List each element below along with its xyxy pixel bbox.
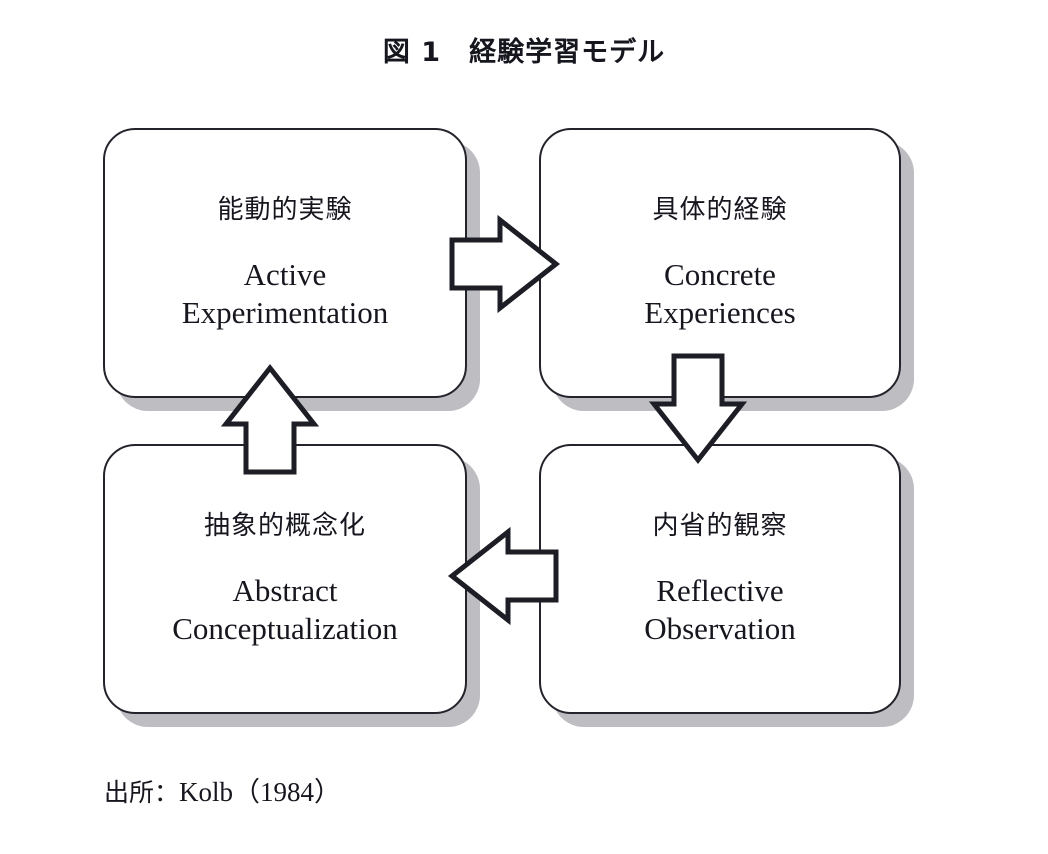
arrow-down-icon [650, 352, 746, 464]
experiential-learning-diagram: 能動的実験 Active Experimentation 具体的経験 Concr… [0, 0, 1048, 854]
source-reference: Kolb（1984） [179, 777, 341, 807]
node-active-experimentation[interactable]: 能動的実験 Active Experimentation [103, 128, 467, 398]
node-label-en-abstract-conceptualization: Abstract Conceptualization [172, 572, 398, 648]
node-reflective-observation[interactable]: 内省的観察 Reflective Observation [539, 444, 901, 714]
arrow-right-icon [448, 216, 560, 312]
node-label-jp-concrete-experiences: 具体的経験 [652, 195, 787, 226]
node-label-jp-reflective-observation: 内省的観察 [652, 511, 787, 542]
node-label-en-active-experimentation: Active Experimentation [182, 256, 389, 332]
node-label-en-concrete-experiences: Concrete Experiences [644, 256, 795, 332]
node-label-jp-active-experimentation: 能動的実験 [217, 195, 352, 226]
source-prefix: 出所： [104, 778, 179, 807]
node-label-en-reflective-observation: Reflective Observation [644, 572, 796, 648]
arrow-left-icon [448, 528, 560, 624]
source-note: 出所：Kolb（1984） [104, 770, 341, 809]
node-abstract-conceptualization[interactable]: 抽象的概念化 Abstract Conceptualization [103, 444, 467, 714]
node-label-jp-abstract-conceptualization: 抽象的概念化 [204, 511, 366, 542]
arrow-up-icon [222, 364, 318, 476]
